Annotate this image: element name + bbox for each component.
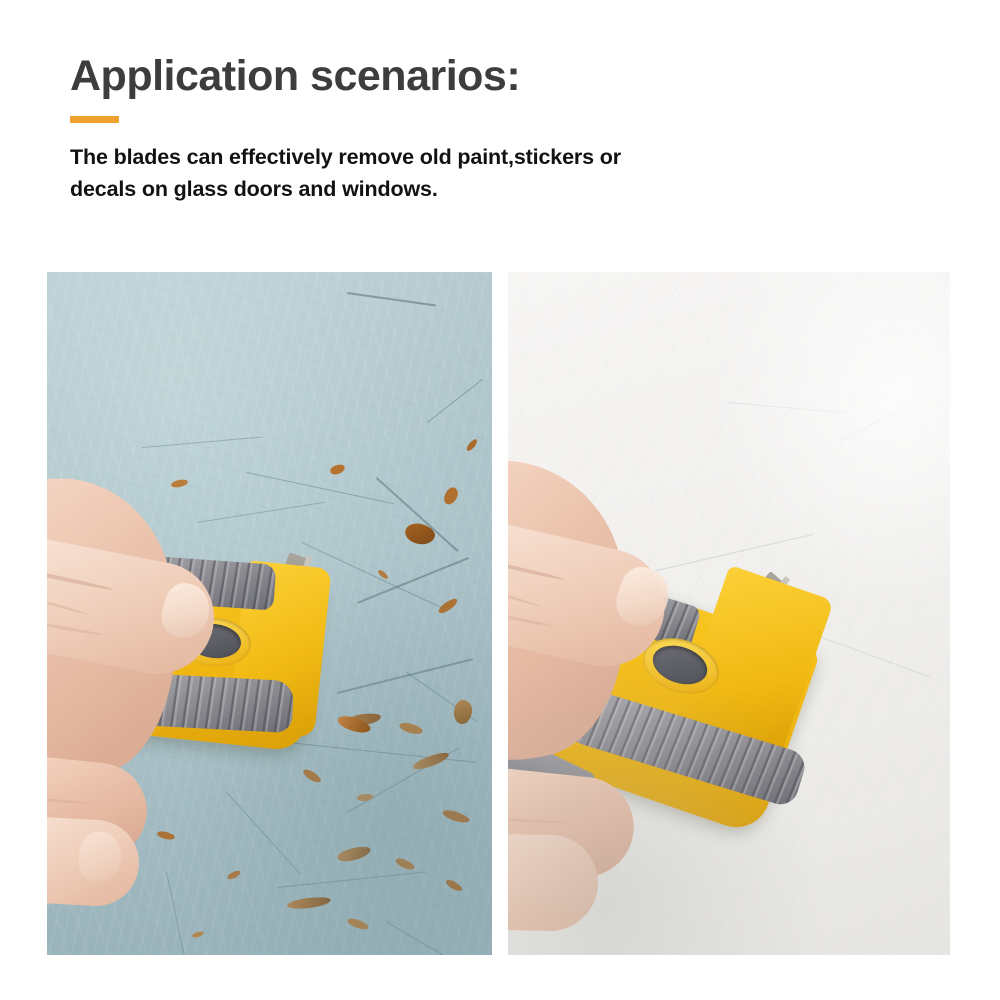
header-block: Application scenarios: The blades can ef… — [70, 54, 950, 206]
photo-right-clean-surface — [508, 272, 950, 955]
description-line-2: decals on glass doors and windows. — [70, 174, 830, 206]
scraped-debris — [336, 713, 372, 736]
white-surface-shading — [508, 272, 950, 955]
hand-left — [47, 480, 297, 950]
accent-underline-bar — [70, 116, 119, 123]
page-title: Application scenarios: — [70, 54, 950, 99]
photo-left-scraping-paint — [47, 272, 492, 955]
description-text: The blades can effectively remove old pa… — [70, 142, 830, 206]
description-line-1: The blades can effectively remove old pa… — [70, 145, 621, 169]
product-marketing-page: Application scenarios: The blades can ef… — [0, 0, 1000, 1000]
